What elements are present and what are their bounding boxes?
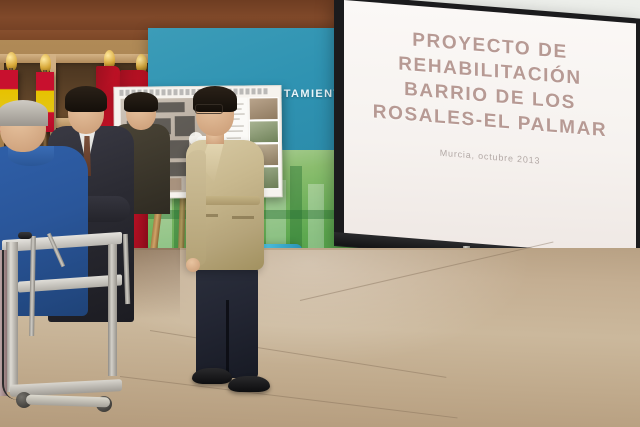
poster-photo (249, 97, 279, 120)
shoe-left (192, 368, 232, 384)
map-block (155, 102, 185, 112)
poster-photo (249, 120, 279, 143)
projection-screen: PROYECTO DE REHABILITACIÓN BARRIO DE LOS… (344, 0, 636, 259)
slide-subtitle: Murcia, octubre 2013 (344, 140, 636, 173)
person-beige-jacket-hand (186, 258, 200, 272)
microphone-head (18, 232, 32, 239)
slide-content: PROYECTO DE REHABILITACIÓN BARRIO DE LOS… (344, 22, 636, 173)
person-dark-suit-hair (65, 86, 107, 112)
photo-scene: AYUNTAMIENTO (0, 0, 640, 427)
person-beige-jacket-leg-split (226, 300, 229, 378)
person-beige-jacket-arm (186, 150, 206, 266)
jacket-pocket (232, 216, 254, 219)
av-cart-post-right (108, 244, 117, 376)
power-cable (2, 250, 18, 400)
person-background-hair (124, 92, 158, 112)
shoe-right (228, 376, 270, 392)
floor-reflection (120, 250, 540, 370)
glasses-icon (195, 104, 223, 114)
person-blue-polo-hair (0, 100, 48, 126)
